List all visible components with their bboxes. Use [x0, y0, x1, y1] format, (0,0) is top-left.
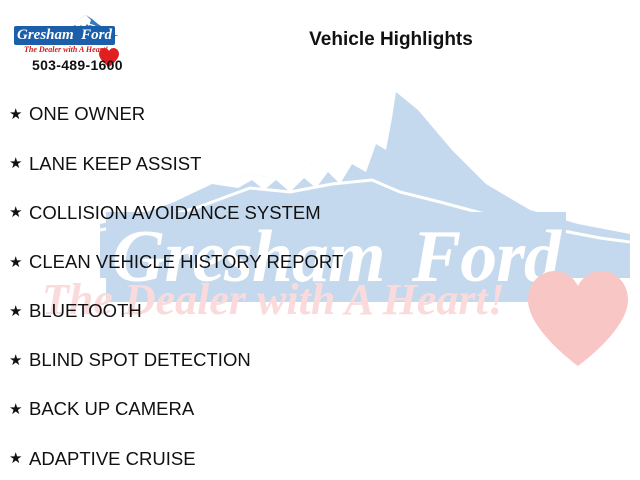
list-item-label: ONE OWNER	[29, 105, 145, 124]
list-item: ★ BACK UP CAMERA	[0, 385, 640, 434]
list-item-label: BACK UP CAMERA	[29, 400, 194, 419]
list-item: ★ ADAPTIVE CRUISE	[0, 434, 640, 480]
list-item-label: ADAPTIVE CRUISE	[29, 450, 196, 469]
star-bullet-icon: ★	[9, 402, 29, 417]
list-item-label: LANE KEEP ASSIST	[29, 155, 201, 174]
vehicle-highlights-page: Gresham Ford The Dealer with A Heart! Gr…	[0, 0, 640, 480]
list-item-label: BLUETOOTH	[29, 302, 142, 321]
list-item: ★ CLEAN VEHICLE HISTORY REPORT	[0, 238, 640, 287]
star-bullet-icon: ★	[9, 205, 29, 220]
dealer-phone-number[interactable]: 503-489-1600	[32, 58, 123, 72]
star-bullet-icon: ★	[9, 107, 29, 122]
list-item-label: COLLISION AVOIDANCE SYSTEM	[29, 204, 321, 223]
star-bullet-icon: ★	[9, 451, 29, 466]
page-title: Vehicle Highlights	[0, 30, 640, 49]
vehicle-highlights-list: ★ ONE OWNER ★ LANE KEEP ASSIST ★ COLLISI…	[0, 90, 640, 480]
star-bullet-icon: ★	[9, 304, 29, 319]
list-item: ★ BLUETOOTH	[0, 287, 640, 336]
star-bullet-icon: ★	[9, 156, 29, 171]
list-item: ★ LANE KEEP ASSIST	[0, 139, 640, 188]
star-bullet-icon: ★	[9, 255, 29, 270]
list-item-label: BLIND SPOT DETECTION	[29, 351, 251, 370]
list-item: ★ BLIND SPOT DETECTION	[0, 336, 640, 385]
list-item-label: CLEAN VEHICLE HISTORY REPORT	[29, 253, 343, 272]
list-item: ★ COLLISION AVOIDANCE SYSTEM	[0, 188, 640, 237]
star-bullet-icon: ★	[9, 353, 29, 368]
list-item: ★ ONE OWNER	[0, 90, 640, 139]
